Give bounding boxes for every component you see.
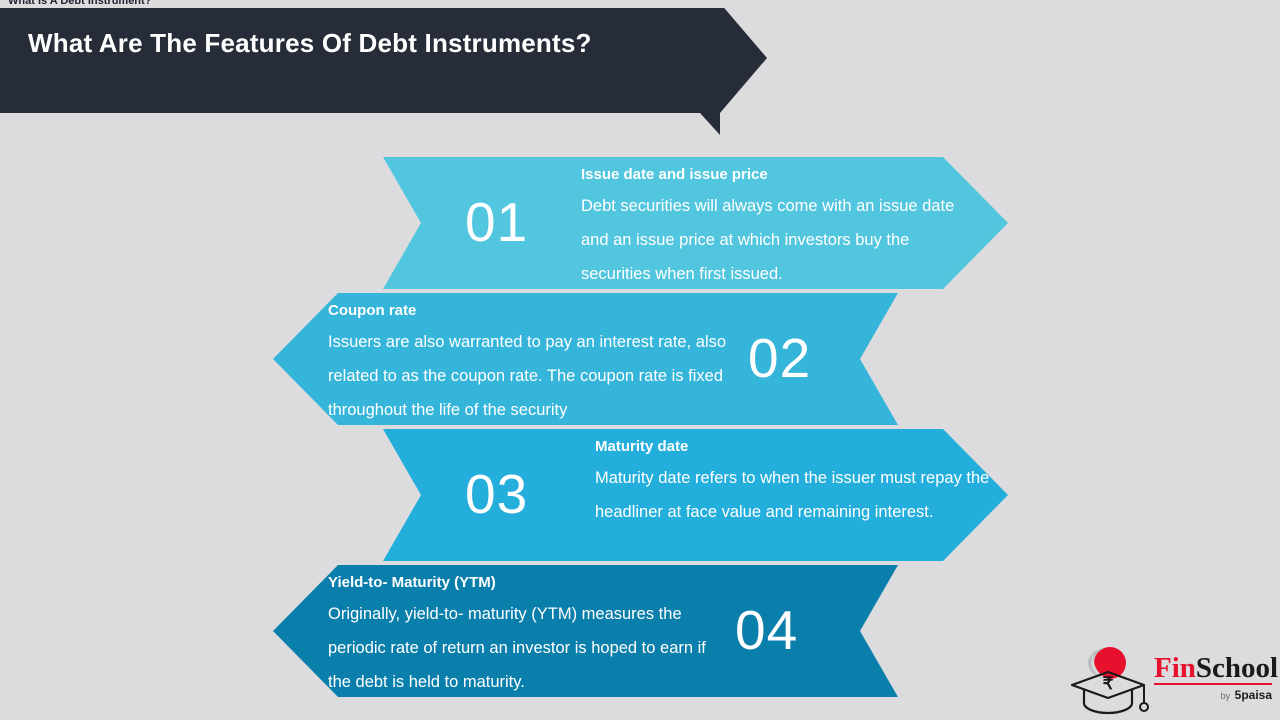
logo-name: FinSchool	[1154, 653, 1274, 684]
page-title: What Are The Features Of Debt Instrument…	[28, 28, 592, 59]
step-title: Maturity date	[595, 437, 995, 457]
rupee-symbol: ₹	[1103, 674, 1114, 693]
logo-name-school: School	[1196, 652, 1278, 684]
step-number: 03	[465, 467, 528, 522]
finschool-logo: ₹ FinSchool by 5paisa	[1062, 645, 1272, 715]
step-row-1: 01 Issue date and issue price Debt secur…	[383, 157, 1008, 289]
logo-by-label: by	[1221, 691, 1231, 701]
step-body: Maturity date refers to when the issuer …	[595, 461, 995, 529]
step-title: Yield-to- Maturity (YTM)	[328, 573, 728, 593]
step-title: Issue date and issue price	[581, 165, 981, 185]
logo-name-fin: Fin	[1154, 652, 1196, 684]
step-row-4: 04 Yield-to- Maturity (YTM) Originally, …	[273, 565, 898, 697]
previous-slide-heading-strip: What Is A Debt Instrument?	[0, 0, 1280, 8]
step-number: 01	[465, 195, 528, 250]
logo-byline: by 5paisa	[1154, 686, 1272, 704]
step-text-block: Issue date and issue price Debt securiti…	[581, 165, 981, 291]
step-title: Coupon rate	[328, 301, 738, 321]
header-banner	[0, 3, 768, 135]
step-body: Originally, yield-to- maturity (YTM) mea…	[328, 597, 728, 699]
step-text-block: Coupon rate Issuers are also warranted t…	[328, 301, 738, 427]
step-number: 04	[735, 603, 798, 658]
step-text-block: Maturity date Maturity date refers to wh…	[595, 437, 995, 529]
step-body: Issuers are also warranted to pay an int…	[328, 325, 738, 427]
logo-brand: 5paisa	[1235, 688, 1272, 702]
previous-slide-heading: What Is A Debt Instrument?	[8, 0, 151, 8]
header-banner-shape	[0, 3, 768, 135]
logo-wordmark: FinSchool by 5paisa	[1154, 653, 1274, 704]
graduation-cap-icon: ₹	[1062, 645, 1154, 715]
step-row-3: 03 Maturity date Maturity date refers to…	[383, 429, 1008, 561]
step-row-2: 02 Coupon rate Issuers are also warrante…	[273, 293, 898, 425]
graduation-cap-glyph: ₹	[1062, 645, 1154, 715]
step-body: Debt securities will always come with an…	[581, 189, 981, 291]
step-number: 02	[748, 331, 811, 386]
step-text-block: Yield-to- Maturity (YTM) Originally, yie…	[328, 573, 728, 699]
